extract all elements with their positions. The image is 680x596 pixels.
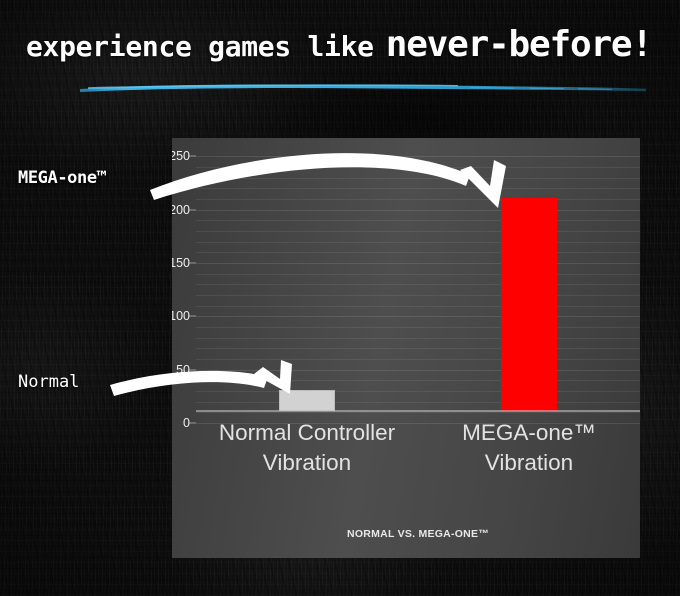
headline: experience games like never-before! — [26, 24, 660, 70]
category-label-line: Vibration — [418, 448, 640, 478]
gridline — [196, 391, 640, 392]
headline-part-2: never-before! — [386, 24, 652, 65]
gridline — [196, 178, 640, 179]
gridline — [196, 210, 640, 211]
gridline — [196, 231, 640, 232]
gridline — [196, 220, 640, 221]
headline-part-1: experience games like — [26, 30, 374, 63]
y-axis-tick-mark — [189, 209, 196, 210]
normal-bar — [279, 390, 335, 411]
gridline — [196, 306, 640, 307]
y-axis-tick-label: 150 — [172, 257, 190, 270]
gridline — [196, 370, 640, 371]
gridline — [196, 402, 640, 403]
gridline — [196, 284, 640, 285]
gridline — [196, 338, 640, 339]
x-axis-line — [196, 410, 640, 412]
category-label-line: Normal Controller — [196, 418, 418, 448]
y-axis-tick-label: 50 — [176, 363, 190, 376]
gridline — [196, 156, 640, 157]
annotation-label-mega-one: MEGA-one™ — [18, 168, 107, 188]
x-axis-title: NORMAL VS. MEGA-ONE™ — [196, 528, 640, 540]
gridline — [196, 263, 640, 264]
gridline — [196, 167, 640, 168]
category-label-line: MEGA-one™ — [418, 418, 640, 448]
mega-one-bar — [501, 198, 557, 411]
gridline — [196, 295, 640, 296]
bar-chart: 050100150200250 Normal ControllerVibrati… — [172, 138, 640, 558]
category-label-1: MEGA-one™Vibration — [418, 418, 640, 508]
gridline — [196, 274, 640, 275]
gridline — [196, 252, 640, 253]
y-axis-tick-mark — [189, 263, 196, 264]
y-axis-tick-mark — [189, 369, 196, 370]
annotation-label-normal: Normal — [18, 372, 79, 392]
y-axis-tick-mark — [189, 156, 196, 157]
category-labels: Normal ControllerVibrationMEGA-one™Vibra… — [196, 418, 640, 508]
gridline — [196, 188, 640, 189]
gridlines — [196, 151, 640, 411]
blue-brush-underline — [78, 80, 648, 96]
y-axis-tick-label: 100 — [172, 310, 190, 323]
gridline — [196, 316, 640, 317]
gridline — [196, 412, 640, 413]
category-label-0: Normal ControllerVibration — [196, 418, 418, 508]
gridline — [196, 327, 640, 328]
gridline — [196, 242, 640, 243]
y-axis-tick-mark — [189, 423, 196, 424]
y-axis-tick-label: 200 — [172, 203, 190, 216]
gridline — [196, 380, 640, 381]
plot-area: 050100150200250 — [196, 151, 640, 411]
y-axis-title: STRENGTH OF VIBRATION — [172, 432, 174, 558]
gridline — [196, 348, 640, 349]
y-axis-tick-mark — [189, 316, 196, 317]
gridline — [196, 359, 640, 360]
gridline — [196, 199, 640, 200]
y-axis-tick-label: 250 — [172, 150, 190, 163]
category-label-line: Vibration — [196, 448, 418, 478]
